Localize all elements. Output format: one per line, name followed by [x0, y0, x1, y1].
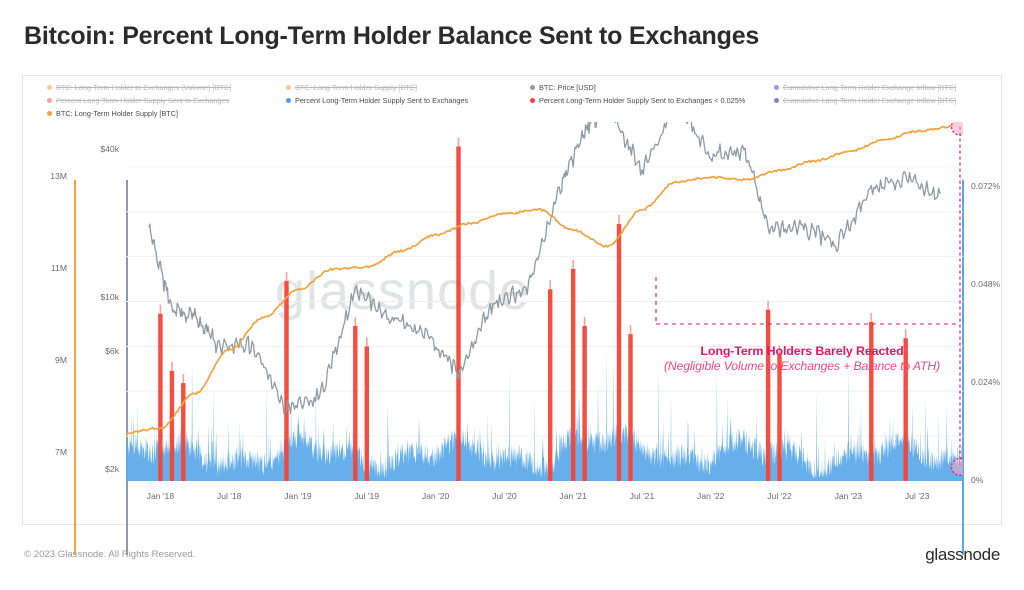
legend-label: BTC: Long-Term Holder to Exchanges (Volu…	[56, 83, 231, 92]
legend-row-2: Percent Long-Term Holder Supply Sent to …	[47, 96, 1003, 109]
y-axis-supply-tick: 11M	[33, 263, 67, 273]
y-axis-supply-tick: 13M	[33, 171, 67, 181]
x-axis-tick: Jan '23	[818, 491, 878, 501]
chart-svg	[126, 122, 963, 481]
legend-item-lth-supply-disabled[interactable]: BTC: Long-Term Holder Supply [BTC]	[286, 83, 530, 92]
legend-label: Percent Long-Term Holder Supply Sent to …	[539, 96, 745, 105]
x-axis-tick: Jul '22	[750, 491, 810, 501]
y-axis-percent-tick: 0.072%	[971, 181, 1000, 191]
legend-label: BTC: Long-Term Holder Supply [BTC]	[56, 109, 178, 118]
legend-swatch-icon	[47, 85, 52, 90]
chart-card: BTC: Long-Term Holder to Exchanges (Volu…	[22, 75, 1002, 525]
y-axis-supply-tick: 7M	[33, 447, 67, 457]
legend-swatch-icon	[774, 85, 779, 90]
legend-label: Percent Long-Term Holder Supply Sent to …	[56, 96, 229, 105]
legend-label: BTC: Price [USD]	[539, 83, 596, 92]
legend-item-percent-sent[interactable]: Percent Long-Term Holder Supply Sent to …	[286, 96, 530, 105]
x-axis-tick: Jan '18	[130, 491, 190, 501]
y-axis-price-tick: $10k	[85, 292, 119, 302]
x-axis-tick: Jan '22	[681, 491, 741, 501]
footer-copyright: © 2023 Glassnode. All Rights Reserved.	[24, 549, 195, 560]
legend-swatch-icon	[774, 98, 779, 103]
brand-logo: glassnode	[925, 545, 1000, 565]
legend-swatch-icon	[286, 85, 291, 90]
y-axis-price-tick: $2k	[85, 464, 119, 474]
chart-legend: BTC: Long-Term Holder to Exchanges (Volu…	[23, 80, 1003, 122]
x-axis-tick: Jul '23	[887, 491, 947, 501]
plot-area	[126, 122, 963, 481]
legend-swatch-icon	[286, 98, 291, 103]
x-axis-tick: Jul '21	[612, 491, 672, 501]
y-axis-percent-tick: 0%	[971, 475, 983, 485]
legend-label: Percent Long-Term Holder Supply Sent to …	[295, 96, 468, 105]
x-axis-tick: Jul '20	[474, 491, 534, 501]
y-axis-percent-tick: 0.024%	[971, 377, 1000, 387]
legend-swatch-icon	[530, 85, 535, 90]
axis-spine-supply	[74, 180, 76, 555]
y-axis-price-tick: $40k	[85, 144, 119, 154]
legend-item-percent-sent-disabled[interactable]: Percent Long-Term Holder Supply Sent to …	[47, 96, 286, 105]
legend-swatch-icon	[47, 98, 52, 103]
x-axis-tick: Jul '18	[199, 491, 259, 501]
legend-swatch-icon	[530, 98, 535, 103]
y-axis-percent-tick: 0.048%	[971, 279, 1000, 289]
x-axis-tick: Jul '19	[337, 491, 397, 501]
legend-label: Cumulative Long-Term Holder Exchange Inf…	[783, 96, 956, 105]
page-title: Bitcoin: Percent Long-Term Holder Balanc…	[24, 22, 759, 51]
legend-row-3: BTC: Long-Term Holder Supply [BTC]	[47, 109, 1003, 122]
y-axis-supply-tick: 9M	[33, 355, 67, 365]
legend-item-cumulative-inflow-2[interactable]: Cumulative Long-Term Holder Exchange Inf…	[774, 96, 1003, 105]
legend-item-percent-sent-threshold[interactable]: Percent Long-Term Holder Supply Sent to …	[530, 96, 774, 105]
chart-page: Bitcoin: Percent Long-Term Holder Balanc…	[0, 0, 1024, 590]
y-axis-price-tick: $6k	[85, 346, 119, 356]
legend-item-lth-to-exchanges-volume[interactable]: BTC: Long-Term Holder to Exchanges (Volu…	[47, 83, 286, 92]
legend-label: Cumulative Long-Term Holder Exchange Inf…	[783, 83, 956, 92]
legend-item-lth-supply[interactable]: BTC: Long-Term Holder Supply [BTC]	[47, 109, 287, 118]
legend-item-cumulative-inflow-1[interactable]: Cumulative Long-Term Holder Exchange Inf…	[774, 83, 1003, 92]
legend-row-1: BTC: Long-Term Holder to Exchanges (Volu…	[47, 83, 1003, 96]
x-axis-tick: Jan '19	[268, 491, 328, 501]
x-axis-tick: Jan '20	[406, 491, 466, 501]
legend-item-btc-price[interactable]: BTC: Price [USD]	[530, 83, 774, 92]
legend-swatch-icon	[47, 111, 52, 116]
legend-label: BTC: Long-Term Holder Supply [BTC]	[295, 83, 417, 92]
x-axis-tick: Jan '21	[543, 491, 603, 501]
